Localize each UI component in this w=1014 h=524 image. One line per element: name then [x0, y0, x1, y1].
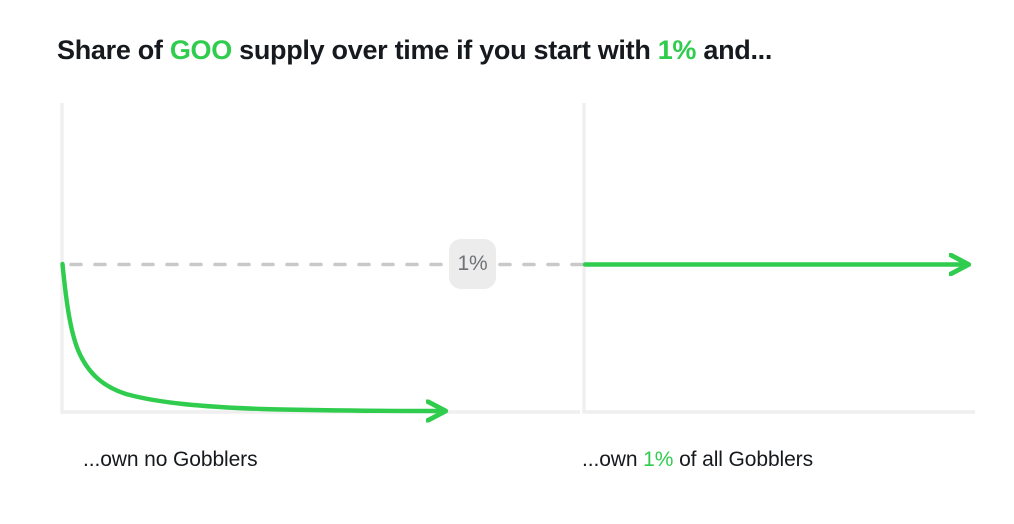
- caption-left-text: ...own no Gobblers: [83, 448, 257, 471]
- chart-figure: Share of GOO supply over time if you sta…: [0, 0, 1014, 524]
- left-panel-axes: [62, 103, 580, 412]
- caption-right-accent: 1%: [643, 448, 673, 471]
- caption-right-prefix: ...own: [582, 448, 643, 471]
- caption-right-suffix: of all Gobblers: [673, 448, 813, 471]
- plot-area: [0, 0, 1014, 524]
- reference-line-badge: 1%: [449, 239, 496, 289]
- caption-right-panel: ...own 1% of all Gobblers: [582, 448, 813, 472]
- caption-left-panel: ...own no Gobblers: [83, 448, 257, 472]
- reference-line-badge-label: 1%: [458, 252, 488, 276]
- left-panel-decay-curve: [63, 264, 444, 411]
- right-panel-axes: [584, 103, 975, 412]
